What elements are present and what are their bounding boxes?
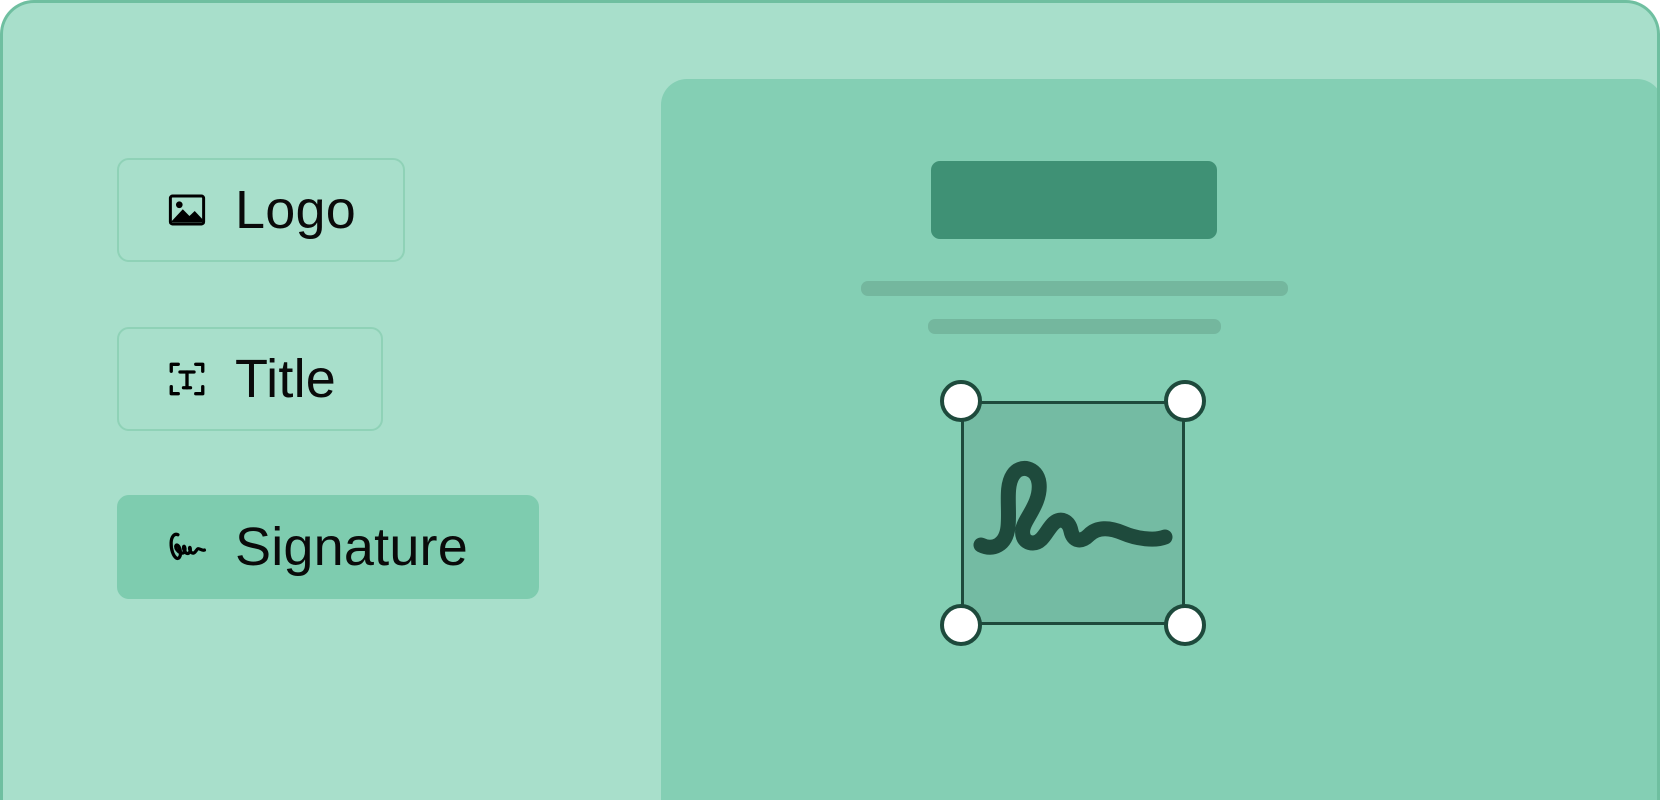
subtitle-placeholder-line[interactable]: [928, 319, 1221, 334]
tool-palette: Logo Title Sig: [3, 3, 661, 800]
resize-handle-top-left[interactable]: [940, 380, 982, 422]
logo-placeholder-block[interactable]: [931, 161, 1217, 239]
text-select-icon: [165, 357, 209, 401]
tool-button-logo[interactable]: Logo: [117, 158, 405, 262]
resize-handle-top-right[interactable]: [1164, 380, 1206, 422]
signature-stroke: [975, 461, 1171, 571]
document-canvas[interactable]: [661, 79, 1660, 800]
tool-button-signature[interactable]: Signature: [117, 495, 539, 599]
tool-button-signature-label: Signature: [235, 520, 468, 574]
resize-handle-bottom-right[interactable]: [1164, 604, 1206, 646]
resize-handle-bottom-left[interactable]: [940, 604, 982, 646]
image-icon: [165, 188, 209, 232]
signature-field[interactable]: [961, 401, 1185, 625]
tool-button-logo-label: Logo: [235, 183, 356, 237]
title-placeholder-line[interactable]: [861, 281, 1288, 296]
app-window: Logo Title Sig: [0, 0, 1660, 800]
tool-button-title-label: Title: [235, 352, 336, 406]
tool-button-title[interactable]: Title: [117, 327, 383, 431]
signature-icon: [165, 525, 209, 569]
